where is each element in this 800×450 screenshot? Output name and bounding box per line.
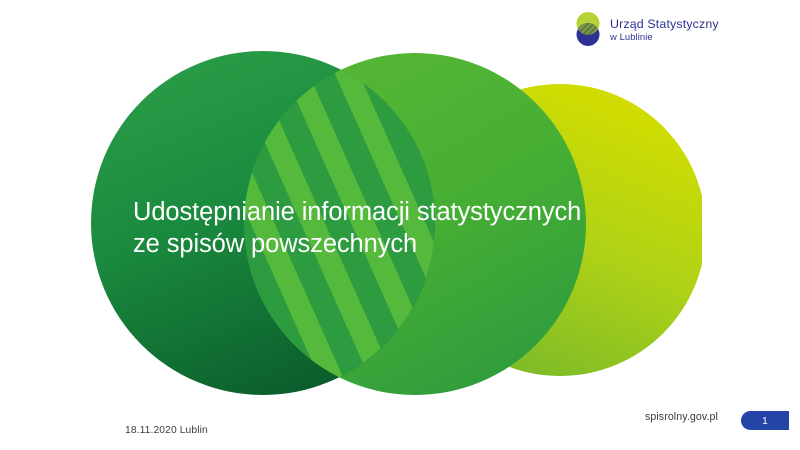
presentation-slide: Urząd Statystyczny w Lublinie Udostępnia… [0, 0, 800, 450]
logo-line-2: w Lublinie [610, 32, 719, 42]
page-number-badge: 1 [741, 411, 789, 430]
organisation-logo: Urząd Statystyczny w Lublinie [573, 7, 708, 51]
logo-wordmark: Urząd Statystyczny w Lublinie [610, 17, 719, 42]
footer-website[interactable]: spisrolny.gov.pl [645, 411, 718, 423]
slide-title: Udostępnianie informacji statystycznych … [133, 196, 603, 260]
footer-right-group: spisrolny.gov.pl 1 [645, 411, 718, 423]
logo-line-1: Urząd Statystyczny [610, 18, 719, 31]
footer-date-place: 18.11.2020 Lublin [125, 425, 208, 436]
logo-circles-icon [573, 9, 603, 49]
